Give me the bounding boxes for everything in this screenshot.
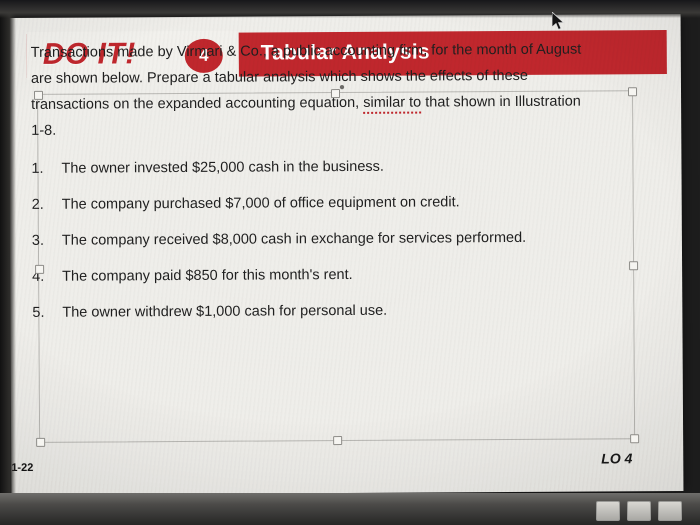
taskbar-button-3[interactable] xyxy=(658,501,682,521)
list-item: 3. The company received $8,000 cash in e… xyxy=(32,225,588,254)
rotation-handle-icon[interactable]: ● xyxy=(339,82,345,93)
taskbar-button-2[interactable] xyxy=(627,501,651,521)
resize-handle-middle-left[interactable] xyxy=(35,265,44,274)
list-item-text: The owner invested $25,000 cash in the b… xyxy=(61,153,587,182)
resize-handle-bottom-left[interactable] xyxy=(36,438,45,447)
list-item: 2. The company purchased $7,000 of offic… xyxy=(32,189,588,218)
mouse-cursor-icon xyxy=(552,12,566,37)
resize-handle-bottom-right[interactable] xyxy=(630,434,639,443)
list-item-number: 5. xyxy=(32,300,62,326)
list-item: 1. The owner invested $25,000 cash in th… xyxy=(31,153,587,182)
list-item-text: The owner withdrew $1,000 cash for perso… xyxy=(62,297,588,326)
list-item-number: 1. xyxy=(31,156,61,182)
resize-handle-top-left[interactable] xyxy=(34,91,43,100)
list-item: 4. The company paid $850 for this month'… xyxy=(32,261,588,290)
presentation-slide: DO IT! 4 Tabular Analysis ● Transactions… xyxy=(9,14,684,495)
list-item: 5. The owner withdrew $1,000 cash for pe… xyxy=(32,297,588,326)
learning-objective-tag: LO 4 xyxy=(601,450,632,466)
list-item-text: The company paid $850 for this month's r… xyxy=(62,261,588,290)
resize-handle-top-right[interactable] xyxy=(628,87,637,96)
list-item-number: 3. xyxy=(32,228,62,254)
list-item-text: The company purchased $7,000 of office e… xyxy=(62,189,588,218)
list-item-text: The company received $8,000 cash in exch… xyxy=(62,225,588,254)
list-item-number: 2. xyxy=(32,192,62,218)
resize-handle-bottom-center[interactable] xyxy=(333,436,342,445)
intro-paragraph: Transactions made by Virmari & Co., a pu… xyxy=(31,37,588,144)
misspelled-phrase: similar to xyxy=(363,95,421,114)
photo-of-projected-slide: DO IT! 4 Tabular Analysis ● Transactions… xyxy=(0,0,700,525)
transaction-list: 1. The owner invested $25,000 cash in th… xyxy=(31,153,588,336)
slide-number: 1-22 xyxy=(11,462,33,474)
taskbar-button-1[interactable] xyxy=(596,501,620,521)
resize-handle-middle-right[interactable] xyxy=(629,261,638,270)
taskbar xyxy=(0,493,700,525)
